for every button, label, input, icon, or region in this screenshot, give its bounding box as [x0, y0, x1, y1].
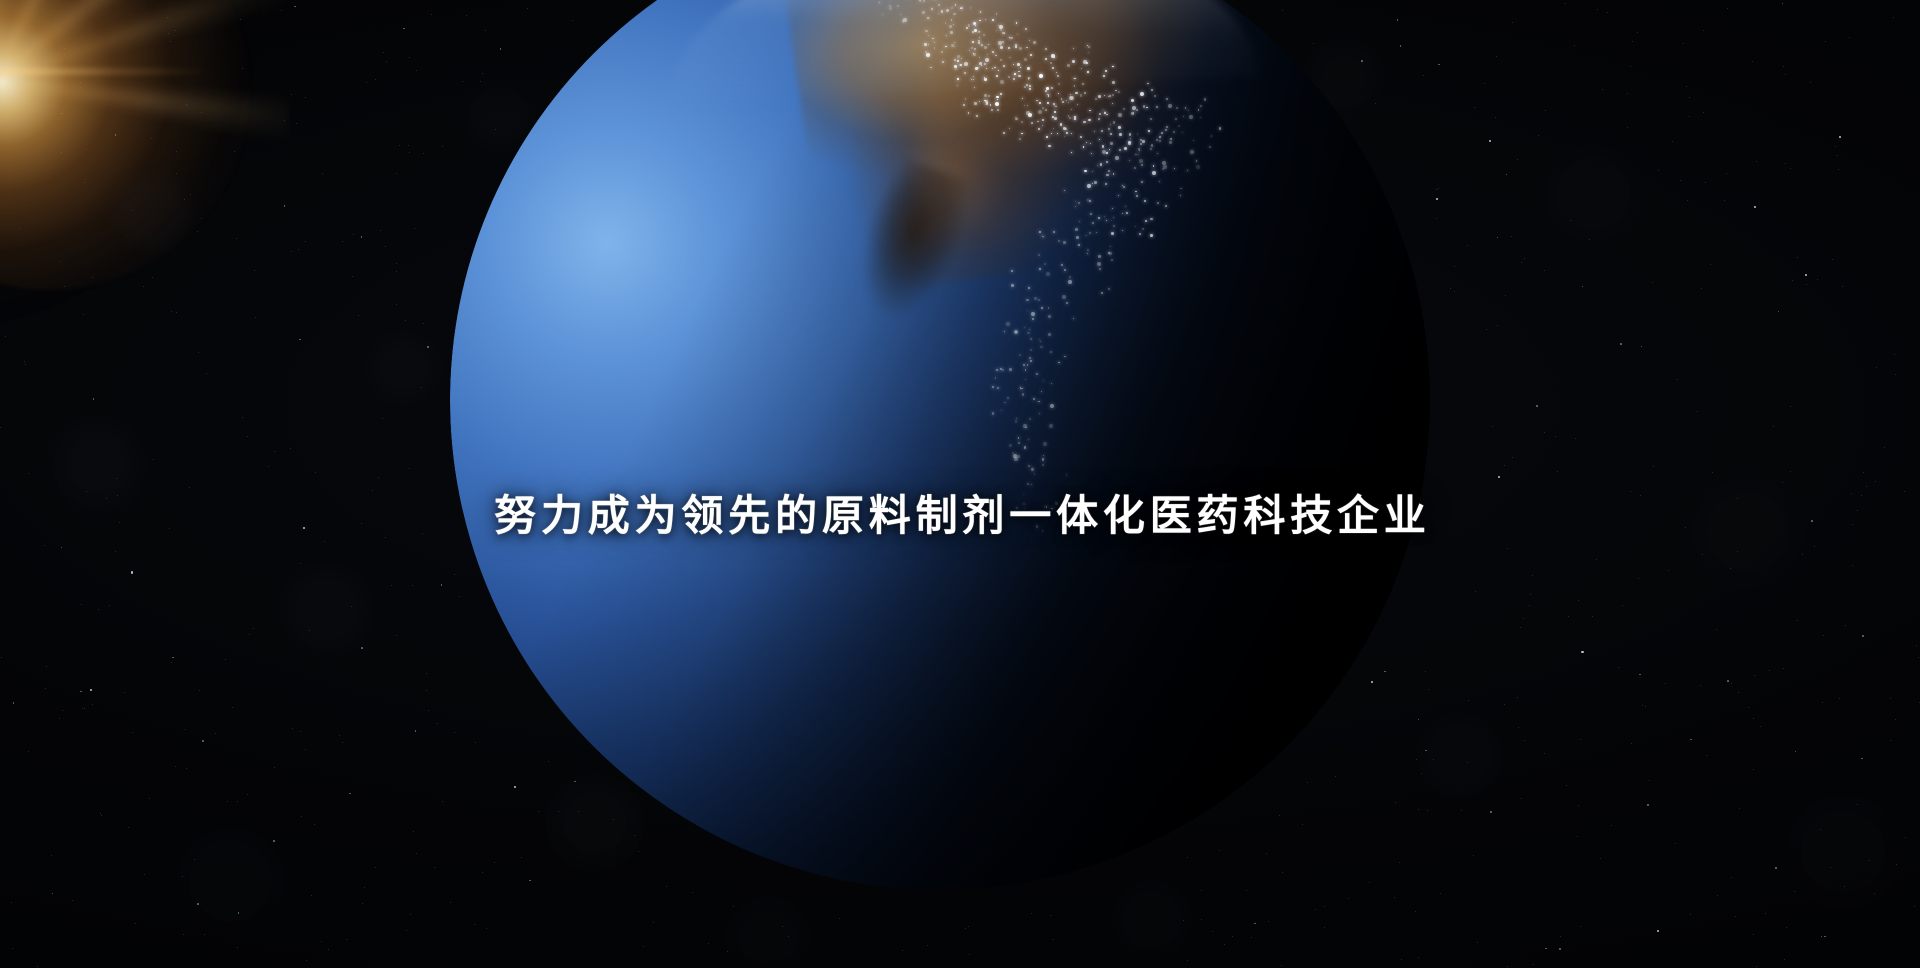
star — [927, 945, 928, 946]
star — [643, 946, 644, 947]
star — [527, 8, 528, 9]
star — [1454, 291, 1455, 292]
star — [1893, 17, 1894, 18]
star — [346, 939, 347, 940]
star — [1737, 551, 1738, 552]
star — [1581, 651, 1583, 653]
star — [1611, 825, 1612, 826]
star — [1701, 288, 1702, 289]
star — [82, 708, 83, 709]
star — [1622, 605, 1623, 606]
star — [1, 657, 2, 658]
star — [1505, 295, 1506, 296]
star — [1597, 9, 1598, 10]
star — [1876, 367, 1877, 368]
star — [1822, 702, 1823, 703]
star — [1394, 897, 1395, 898]
star — [80, 82, 81, 83]
star — [1814, 546, 1815, 547]
star — [1795, 751, 1797, 753]
star — [1533, 964, 1534, 965]
star — [1490, 811, 1492, 813]
star — [300, 731, 301, 732]
star — [1538, 135, 1539, 136]
star — [1683, 43, 1684, 44]
star — [37, 966, 38, 967]
star — [459, 596, 460, 597]
star — [385, 246, 386, 247]
star — [1555, 436, 1556, 437]
star — [324, 541, 325, 542]
star — [1697, 411, 1698, 412]
star — [405, 320, 406, 321]
star — [1415, 911, 1416, 912]
star — [1401, 959, 1402, 960]
star — [454, 732, 455, 733]
star — [1438, 188, 1439, 189]
star — [364, 887, 365, 888]
star — [291, 94, 292, 95]
star — [1731, 877, 1732, 878]
star — [62, 710, 63, 711]
star — [454, 574, 455, 575]
star — [1658, 170, 1659, 171]
star — [1335, 776, 1336, 777]
star — [292, 728, 293, 729]
star — [441, 584, 443, 586]
star — [1825, 41, 1826, 42]
star — [300, 563, 301, 564]
star — [1201, 919, 1202, 920]
star — [1689, 116, 1690, 117]
star — [149, 798, 150, 799]
star — [1450, 288, 1451, 289]
star — [1566, 785, 1567, 786]
star — [1545, 948, 1547, 950]
star — [1592, 616, 1593, 617]
star — [1839, 698, 1840, 699]
star — [1712, 472, 1713, 473]
star — [171, 662, 172, 663]
star — [92, 704, 93, 705]
star — [1802, 554, 1803, 555]
star — [1835, 146, 1836, 147]
star — [1838, 169, 1839, 170]
star — [1820, 829, 1821, 830]
star — [1361, 60, 1363, 62]
star — [170, 41, 171, 42]
star — [1254, 923, 1256, 925]
star — [268, 466, 269, 467]
star — [1782, 482, 1783, 483]
star — [249, 634, 250, 635]
star — [342, 241, 343, 242]
star — [306, 960, 307, 961]
star — [144, 874, 145, 875]
star — [190, 194, 191, 195]
star — [1577, 836, 1578, 837]
star — [247, 794, 248, 795]
star — [172, 657, 174, 659]
star — [391, 585, 392, 586]
star — [428, 710, 429, 711]
star — [1705, 182, 1706, 183]
star — [242, 68, 243, 69]
star — [1792, 280, 1793, 281]
star — [198, 352, 199, 353]
star — [1806, 284, 1807, 285]
star — [500, 48, 502, 50]
star — [132, 732, 133, 733]
star — [1575, 438, 1576, 439]
star — [1400, 45, 1402, 47]
star — [1589, 239, 1590, 240]
star — [1754, 206, 1756, 208]
star — [431, 14, 432, 15]
star — [1473, 855, 1474, 856]
starfield-icon — [0, 0, 1920, 968]
star — [1497, 237, 1499, 239]
star — [1639, 674, 1641, 676]
star — [442, 146, 443, 147]
star — [396, 173, 397, 174]
star — [253, 628, 254, 629]
star — [968, 926, 969, 927]
star — [1618, 667, 1619, 668]
star — [81, 604, 82, 605]
star — [1862, 635, 1864, 637]
star — [1842, 286, 1843, 287]
star — [1866, 486, 1867, 487]
star — [1632, 41, 1633, 42]
star — [227, 801, 228, 802]
star — [1524, 258, 1525, 259]
star — [1418, 957, 1419, 958]
star — [1790, 406, 1791, 407]
star — [1384, 671, 1386, 673]
star — [1724, 200, 1725, 201]
star — [414, 228, 415, 229]
star — [1832, 259, 1833, 260]
star — [175, 30, 176, 31]
star — [52, 893, 54, 895]
star — [409, 57, 410, 58]
star — [1773, 426, 1774, 427]
star — [495, 129, 496, 130]
star — [1580, 926, 1581, 927]
star — [171, 311, 172, 312]
star — [194, 859, 195, 860]
star — [1607, 12, 1608, 13]
star — [1653, 466, 1654, 467]
star — [1375, 103, 1376, 104]
star — [1627, 127, 1628, 128]
star — [1769, 670, 1770, 671]
star — [90, 689, 92, 691]
star — [236, 238, 237, 239]
star — [1467, 762, 1468, 763]
star — [437, 723, 438, 724]
star — [1686, 86, 1687, 87]
star — [234, 151, 235, 152]
star — [475, 742, 476, 743]
star — [1324, 927, 1325, 928]
star — [1523, 618, 1524, 619]
star — [1492, 426, 1493, 427]
star — [204, 934, 205, 935]
star — [1857, 804, 1858, 805]
star — [1436, 198, 1438, 200]
star — [406, 930, 407, 931]
star — [1783, 668, 1784, 669]
star — [788, 936, 789, 937]
star — [409, 468, 410, 469]
star — [1890, 698, 1891, 699]
star — [322, 173, 323, 174]
star — [1657, 930, 1659, 932]
star — [84, 182, 85, 183]
star — [199, 690, 200, 691]
star — [423, 153, 424, 154]
star — [291, 251, 292, 252]
star — [1680, 180, 1681, 181]
star — [482, 872, 483, 873]
star — [1760, 726, 1761, 727]
star — [1307, 782, 1308, 783]
star — [1689, 97, 1690, 98]
star — [1874, 893, 1875, 894]
star — [301, 816, 302, 817]
star — [80, 691, 82, 693]
star — [733, 906, 734, 907]
star — [1438, 64, 1440, 66]
star — [201, 218, 202, 219]
star — [1433, 759, 1434, 760]
star — [529, 880, 531, 882]
star — [1875, 481, 1876, 482]
star — [1524, 740, 1525, 741]
star — [383, 52, 384, 53]
star — [1631, 743, 1632, 744]
star — [1530, 594, 1531, 595]
star — [1315, 909, 1316, 910]
star — [175, 766, 176, 767]
star — [1559, 948, 1561, 950]
star — [59, 718, 60, 719]
star — [1752, 61, 1753, 62]
star — [1282, 872, 1283, 873]
star — [1517, 697, 1518, 698]
star — [415, 730, 417, 732]
star — [314, 824, 315, 825]
star — [434, 867, 435, 868]
star — [1511, 236, 1512, 237]
star — [1557, 471, 1558, 472]
star — [1495, 117, 1496, 118]
star — [1532, 575, 1533, 576]
star — [421, 387, 422, 388]
star — [462, 81, 463, 82]
star — [382, 418, 383, 419]
star — [403, 28, 405, 30]
star — [474, 924, 475, 925]
star — [247, 436, 248, 437]
star — [305, 241, 306, 242]
star — [1497, 325, 1498, 326]
star — [60, 261, 61, 262]
star — [386, 61, 387, 62]
star — [426, 690, 427, 691]
star — [1536, 405, 1538, 407]
star — [342, 742, 343, 743]
star — [1282, 10, 1283, 11]
star — [240, 19, 241, 20]
star — [408, 145, 409, 146]
star — [1602, 89, 1603, 90]
star — [666, 886, 667, 887]
star — [1649, 780, 1650, 781]
star — [83, 314, 84, 315]
star — [1477, 942, 1478, 943]
star — [572, 20, 573, 21]
star — [494, 862, 495, 863]
star — [1748, 707, 1749, 708]
star — [839, 918, 840, 919]
star — [1894, 354, 1895, 355]
star — [638, 851, 639, 852]
star — [1520, 627, 1521, 628]
star — [281, 10, 282, 11]
star — [1869, 860, 1870, 861]
star — [1716, 629, 1717, 630]
star — [1641, 346, 1643, 348]
star — [1642, 705, 1643, 706]
star — [1395, 802, 1396, 803]
star — [284, 205, 286, 207]
star — [1397, 19, 1399, 21]
star — [124, 692, 125, 693]
star — [1507, 548, 1508, 549]
star — [152, 277, 153, 278]
star — [1753, 769, 1754, 770]
star — [51, 855, 52, 856]
star — [46, 666, 47, 667]
star — [1578, 600, 1579, 601]
star — [1690, 739, 1692, 741]
star — [135, 923, 136, 924]
star — [61, 547, 63, 549]
star — [1031, 913, 1032, 914]
hero-headline: 努力成为领先的原料制剂一体化医药科技企业 — [489, 492, 1430, 539]
star — [86, 149, 87, 150]
star — [1504, 465, 1505, 466]
star — [1518, 727, 1519, 728]
star — [361, 236, 363, 238]
star — [1544, 270, 1545, 271]
star — [613, 819, 614, 820]
star — [153, 459, 154, 460]
star — [366, 82, 367, 83]
star — [427, 346, 429, 348]
star — [1918, 657, 1919, 658]
star — [1187, 857, 1188, 858]
star — [1805, 274, 1807, 276]
star — [186, 768, 187, 769]
star — [25, 364, 26, 365]
star — [93, 398, 95, 400]
star — [189, 487, 190, 488]
star — [692, 892, 693, 893]
star — [128, 827, 129, 828]
star — [1702, 554, 1703, 555]
star — [634, 835, 635, 836]
star — [1710, 264, 1711, 265]
star — [1884, 447, 1885, 448]
star — [1246, 890, 1247, 891]
star — [1302, 824, 1303, 825]
star — [176, 151, 177, 152]
star — [92, 277, 93, 278]
star — [375, 79, 376, 80]
star — [168, 33, 169, 34]
star — [1512, 22, 1513, 23]
star — [349, 793, 351, 795]
star — [1778, 311, 1780, 313]
star — [412, 585, 413, 586]
star — [273, 840, 275, 842]
star — [1727, 8, 1728, 9]
hero-banner: 努力成为领先的原料制剂一体化医药科技企业 — [0, 0, 1920, 968]
star — [1498, 476, 1500, 478]
star — [1232, 936, 1233, 937]
star — [1645, 706, 1646, 707]
star — [1687, 200, 1688, 201]
star — [1797, 620, 1798, 621]
star — [1050, 915, 1051, 916]
star — [151, 138, 152, 139]
star — [1484, 83, 1485, 84]
star — [1454, 266, 1455, 267]
star — [1784, 959, 1785, 960]
star — [1794, 891, 1795, 892]
star — [1845, 625, 1846, 626]
star — [1348, 898, 1349, 899]
star — [1785, 74, 1786, 75]
star — [296, 123, 297, 124]
star — [1423, 75, 1424, 76]
star — [1823, 635, 1824, 636]
star — [98, 609, 99, 610]
star — [521, 857, 522, 858]
star — [28, 473, 29, 474]
star — [1512, 457, 1513, 458]
star — [1753, 718, 1754, 719]
star — [1717, 895, 1718, 896]
star — [115, 134, 117, 136]
star — [1416, 759, 1417, 760]
headline-container: 努力成为领先的原料制剂一体化医药科技企业 — [0, 492, 1920, 539]
star — [1436, 218, 1437, 219]
star — [1647, 804, 1649, 806]
star — [450, 902, 451, 903]
star — [1785, 163, 1786, 164]
star — [1468, 700, 1469, 701]
star — [1668, 570, 1669, 571]
star — [1739, 808, 1740, 809]
star — [61, 113, 63, 115]
star — [24, 361, 25, 362]
star — [1461, 810, 1462, 811]
